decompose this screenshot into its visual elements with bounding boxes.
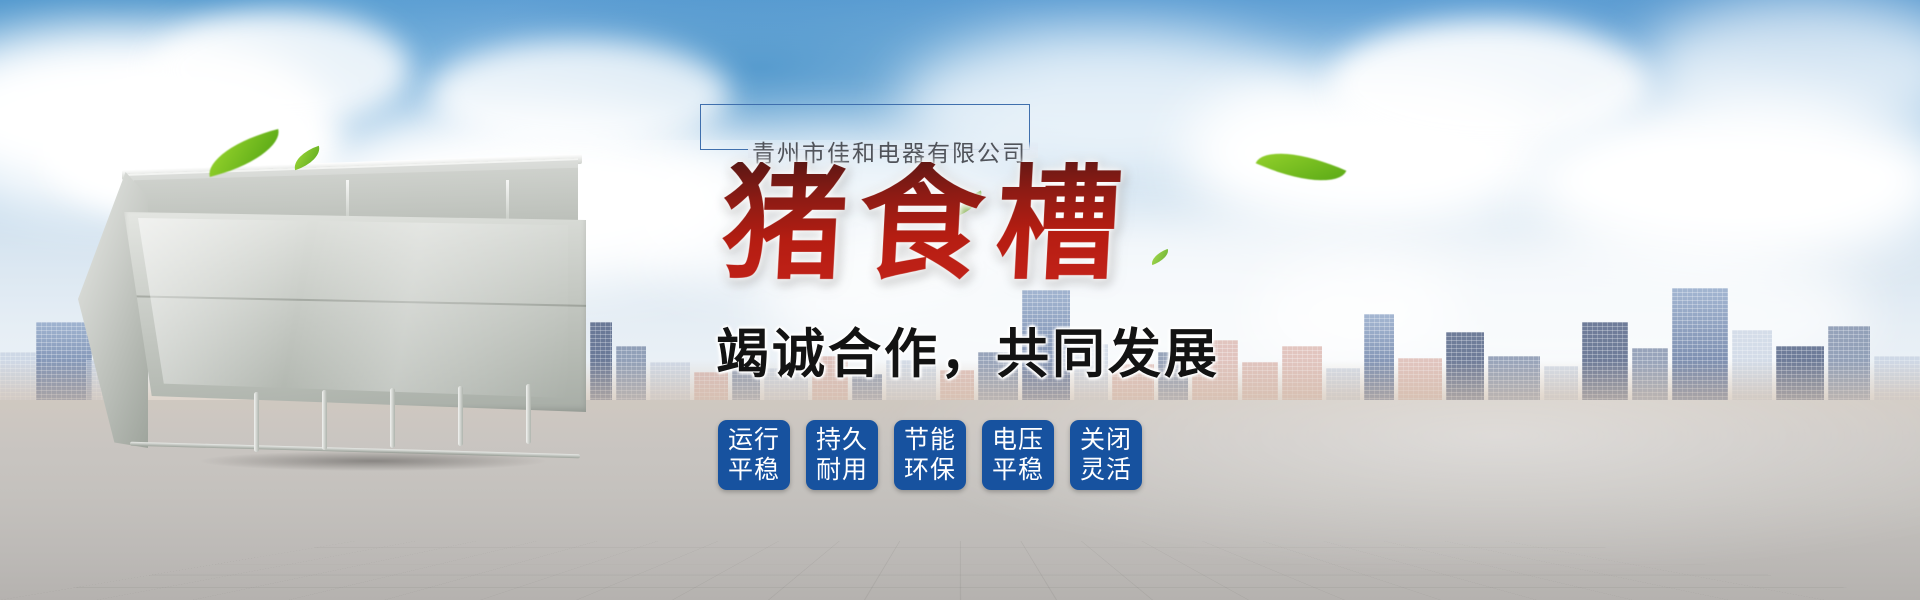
feature-badge-1-line1: 运行 (728, 425, 780, 456)
promotional-banner: 青州市佳和电器有限公司 猪食槽 竭诚合作，共同发展 运行 平稳 持久 耐用 节能… (0, 0, 1920, 600)
feature-badge-2-line2: 耐用 (816, 455, 868, 486)
trough-feed-bar (322, 390, 327, 450)
feature-badge-5[interactable]: 关闭 灵活 (1070, 420, 1142, 490)
feature-badge-5-line2: 灵活 (1080, 455, 1132, 486)
feature-badge-3-line2: 环保 (904, 455, 956, 486)
sub-headline: 竭诚合作，共同发展 (716, 328, 1220, 381)
trough-divider (506, 180, 509, 224)
feature-badge-2[interactable]: 持久 耐用 (806, 420, 878, 490)
headline-title: 猪食槽 (719, 162, 1137, 287)
trough-feed-bar (458, 386, 463, 446)
trough-ground-shadow (138, 448, 608, 474)
feature-badge-4-line1: 电压 (992, 425, 1044, 456)
trough-feed-bar (390, 388, 395, 448)
feature-badge-4[interactable]: 电压 平稳 (982, 420, 1054, 490)
feature-badge-1[interactable]: 运行 平稳 (718, 420, 790, 490)
feature-badge-5-line1: 关闭 (1080, 425, 1132, 456)
trough-feed-bar (526, 384, 531, 444)
trough-feed-bar (254, 392, 259, 452)
feature-badge-list: 运行 平稳 持久 耐用 节能 环保 电压 平稳 关闭 灵活 (718, 420, 1142, 490)
trough-front-panel (124, 212, 586, 412)
feature-badge-2-line1: 持久 (816, 425, 868, 456)
feature-badge-3[interactable]: 节能 环保 (894, 420, 966, 490)
feature-badge-4-line2: 平稳 (992, 455, 1044, 486)
feature-badge-3-line1: 节能 (904, 425, 956, 456)
cloud (150, 10, 410, 130)
banner-copy-block: 青州市佳和电器有限公司 猪食槽 竭诚合作，共同发展 运行 平稳 持久 耐用 节能… (700, 92, 1460, 562)
feature-badge-1-line2: 平稳 (728, 455, 780, 486)
product-image-pig-feeding-trough (78, 160, 598, 460)
cloud (430, 40, 730, 150)
